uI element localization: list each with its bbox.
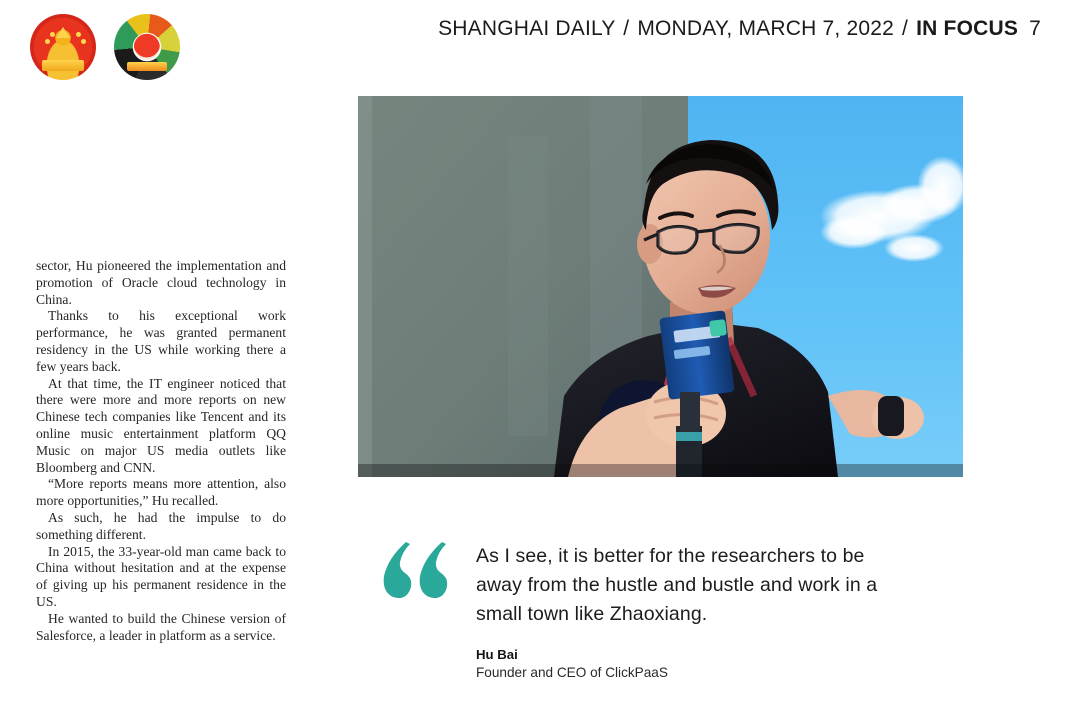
- story-paragraph: As such, he had the impulse to do someth…: [36, 510, 286, 544]
- story-paragraph: He wanted to build the Chinese version o…: [36, 611, 286, 645]
- quote-glyph: [380, 540, 452, 600]
- story-paragraph: Thanks to his exceptional work performan…: [36, 308, 286, 375]
- story-paragraph: At that time, the IT engineer noticed th…: [36, 376, 286, 477]
- page-number: 7: [1024, 17, 1041, 40]
- masthead: SHANGHAI DAILY / MONDAY, MARCH 7, 2022 /…: [0, 0, 1079, 96]
- cppcc-emblem-icon: [114, 14, 180, 80]
- quote-text: As I see, it is better for the researche…: [476, 542, 896, 629]
- quotation-mark-icon: [380, 540, 452, 600]
- emblem-group: [30, 14, 180, 80]
- masthead-separator-1: /: [621, 17, 631, 40]
- national-emblem-of-china-icon: [30, 14, 96, 80]
- story-text-column: sector, Hu pioneered the implementation …: [36, 258, 286, 644]
- photo-illustration: 立时: [358, 96, 963, 477]
- publication-name: SHANGHAI DAILY: [438, 17, 615, 40]
- pull-quote-block: As I see, it is better for the researche…: [380, 536, 980, 682]
- story-paragraph: “More reports means more attention, also…: [36, 476, 286, 510]
- section-name: IN FOCUS: [916, 17, 1018, 40]
- story-paragraph: sector, Hu pioneered the implementation …: [36, 258, 286, 308]
- quote-attribution-role: Founder and CEO of ClickPaaS: [476, 663, 980, 682]
- article-photo: 立时: [358, 96, 963, 477]
- publication-date: MONDAY, MARCH 7, 2022: [637, 17, 894, 40]
- masthead-separator-2: /: [900, 17, 910, 40]
- quote-attribution-name: Hu Bai: [476, 646, 980, 663]
- masthead-headline: SHANGHAI DAILY / MONDAY, MARCH 7, 2022 /…: [438, 17, 1041, 41]
- quote-body: As I see, it is better for the researche…: [476, 536, 980, 682]
- story-paragraph: In 2015, the 33-year-old man came back t…: [36, 544, 286, 611]
